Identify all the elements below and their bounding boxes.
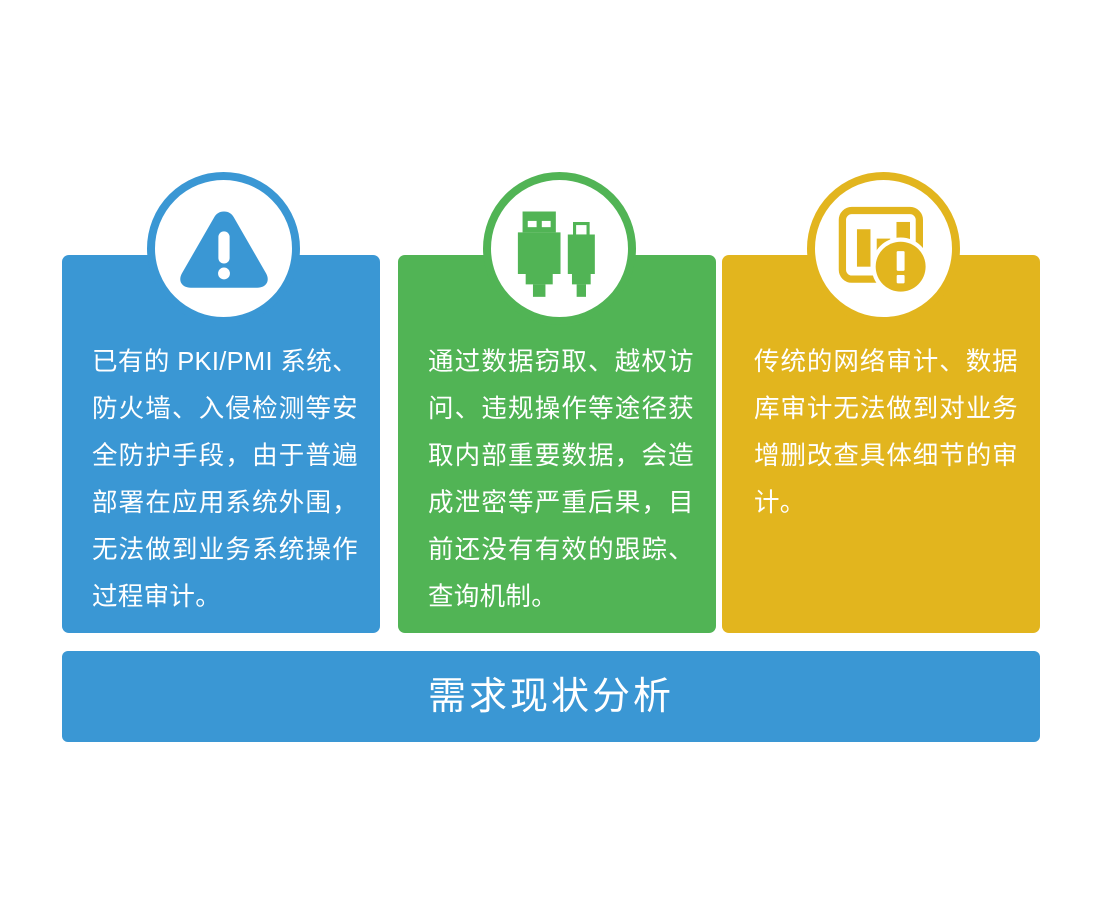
card-audit-gap-text: 传统的网络审计、数据库审计无法做到对业务增删改查具体细节的审计。 [754, 339, 1018, 527]
section-banner: 需求现状分析 [62, 651, 1040, 742]
warning-triangle-icon [172, 197, 276, 301]
icon-badge-report-alert [807, 172, 960, 325]
infographic-canvas: 已有的 PKI/PMI 系统、防火墙、入侵检测等安全防护手段，由于普遍部署在应用… [0, 0, 1100, 903]
card-pki-pmi-text: 已有的 PKI/PMI 系统、防火墙、入侵检测等安全防护手段，由于普遍部署在应用… [92, 339, 358, 621]
icon-badge-usb [483, 172, 636, 325]
usb-connectors-icon [508, 197, 612, 301]
icon-badge-warning [147, 172, 300, 325]
card-data-theft-text: 通过数据窃取、越权访问、违规操作等途径获取内部重要数据，会造成泄密等严重后果，目… [428, 339, 694, 621]
report-alert-icon [832, 197, 936, 301]
banner-title: 需求现状分析 [428, 678, 674, 716]
